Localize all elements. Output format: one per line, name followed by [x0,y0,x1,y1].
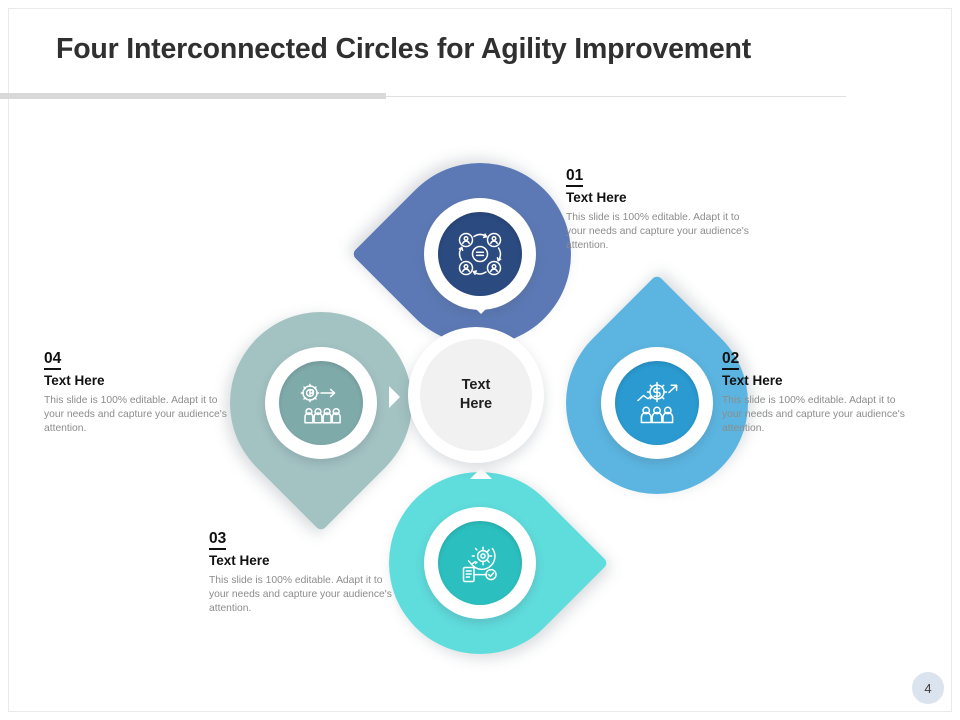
callout-03: 03 Text Here This slide is 100% editable… [209,530,405,617]
petal-03[interactable] [389,472,571,654]
petal-01-disc [438,212,522,296]
petal-04[interactable] [230,312,412,494]
gear-arrow-people-icon [295,377,347,429]
callout-04-heading: Text Here [44,373,240,390]
connector-arrow-bottom [470,468,492,479]
callout-01-number: 01 [566,167,583,187]
connector-arrow-top [470,303,492,314]
callout-02-body: This slide is 100% editable. Adapt it to… [722,394,918,437]
callout-01-body: This slide is 100% editable. Adapt it to… [566,211,762,254]
center-hub[interactable]: Text Here [408,327,544,463]
petal-02-disc [615,361,699,445]
center-label: Text Here [460,376,492,414]
gear-cycle-document-check-icon [454,537,506,589]
gear-dollar-team-growth-icon [631,377,683,429]
petal-03-disc [438,521,522,605]
callout-02-number: 02 [722,350,739,370]
connector-arrow-right [547,386,558,408]
page-number: 4 [912,672,944,704]
callout-03-heading: Text Here [209,553,405,570]
callout-03-number: 03 [209,530,226,550]
callout-01-heading: Text Here [566,190,762,207]
people-network-equals-icon [454,228,506,280]
callout-04-body: This slide is 100% editable. Adapt it to… [44,394,240,437]
petal-01[interactable] [389,163,571,345]
petal-04-disc [279,361,363,445]
petal-02[interactable] [566,312,748,494]
connector-arrow-left [389,386,400,408]
callout-01: 01 Text Here This slide is 100% editable… [566,167,762,254]
callout-02-heading: Text Here [722,373,918,390]
callout-04-number: 04 [44,350,61,370]
center-hub-inner: Text Here [420,339,532,451]
slide-canvas: Four Interconnected Circles for Agility … [0,0,960,720]
callout-04: 04 Text Here This slide is 100% editable… [44,350,240,437]
callout-03-body: This slide is 100% editable. Adapt it to… [209,574,405,617]
callout-02: 02 Text Here This slide is 100% editable… [722,350,918,437]
